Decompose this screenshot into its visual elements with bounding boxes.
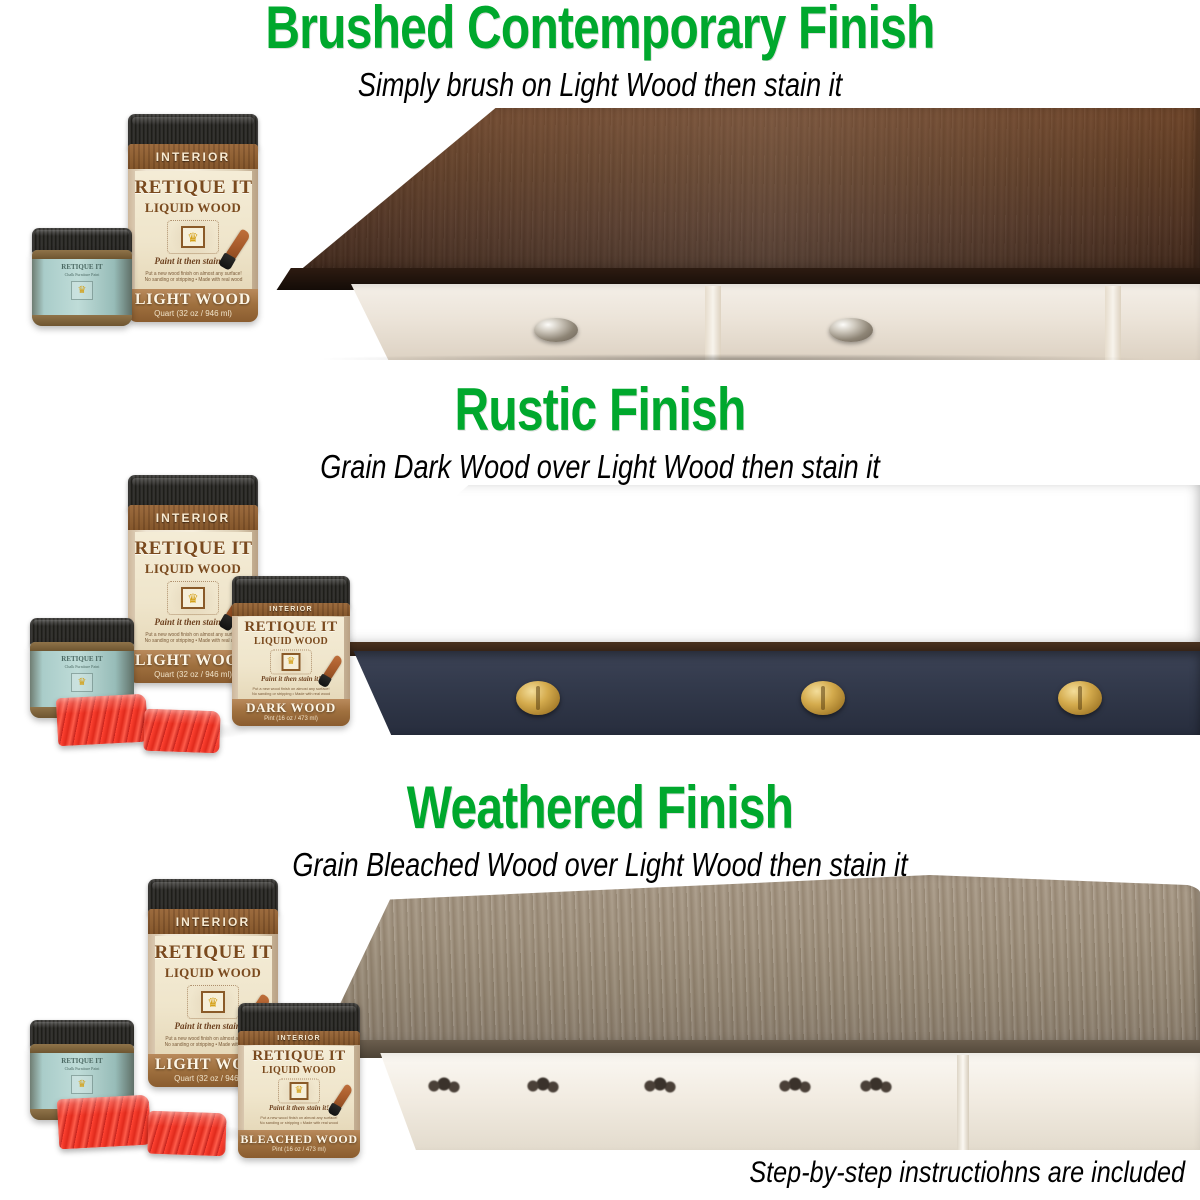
jar-fineprint-line2: No sanding or stripping • Made with real…	[137, 277, 249, 283]
jar-brand-name: RETIQUE IT	[244, 1048, 354, 1065]
section-brushed-contemporary: Brushed Contemporary Finish Simply brush…	[0, 0, 1200, 390]
jar-interior-band: INTERIOR	[148, 909, 278, 934]
jar-product-label: Chalk Furniture Paint	[40, 272, 124, 277]
jar-interior-label: INTERIOR	[128, 505, 258, 530]
jar-product-label: Chalk Furniture Paint	[38, 1066, 125, 1071]
infographic-page: Brushed Contemporary Finish Simply brush…	[0, 0, 1200, 1200]
paint-brush-icon	[225, 228, 251, 259]
jar-main-label: RETIQUE IT LIQUID WOOD ♛ Paint it then s…	[244, 1046, 354, 1130]
jar-interior-label: INTERIOR	[232, 603, 350, 616]
section-heading-weathered: Weathered Finish	[120, 778, 1080, 838]
jar-variant-name: DARK WOOD	[232, 699, 350, 716]
fleur-de-lis-icon: ♛	[269, 649, 313, 675]
fleur-de-lis-icon: ♛	[165, 580, 221, 616]
drawer-pull	[858, 1077, 894, 1097]
jar-brand-name: RETIQUE IT	[135, 538, 252, 560]
wood-graining-rocker	[147, 1111, 226, 1157]
jar-product-name: LIQUID WOOD	[155, 965, 272, 981]
jar-top-ring	[32, 250, 132, 259]
tabletop-surface	[248, 108, 1200, 278]
drawer-front-panel	[267, 284, 1200, 360]
section-heading-brushed-contemporary: Brushed Contemporary Finish	[120, 0, 1080, 58]
brushed-contemporary-furniture-photo	[248, 108, 1200, 360]
jar-interior-band: INTERIOR	[232, 603, 350, 616]
jar-product-name: LIQUID WOOD	[135, 200, 252, 216]
jar-interior-label: INTERIOR	[128, 144, 258, 169]
jar-brand-name: RETIQUE IT	[238, 619, 344, 636]
wood-graining-rocker	[56, 694, 148, 747]
fleur-de-lis-icon: ♛	[71, 673, 93, 692]
drawer-pull	[426, 1077, 462, 1097]
jar-interior-band: INTERIOR	[128, 144, 258, 169]
jar-interior-band: INTERIOR	[238, 1031, 360, 1045]
jar-size-label: Pint (16 oz / 473 ml)	[238, 1147, 360, 1153]
drawer-knob	[801, 681, 845, 715]
drawer-divider-stile	[957, 1055, 969, 1150]
rustic-furniture-photo	[250, 485, 1200, 735]
jar-interior-label: INTERIOR	[148, 909, 278, 934]
drawer-divider-stile	[705, 286, 721, 360]
fleur-de-lis-icon: ♛	[165, 219, 221, 255]
fleur-de-lis-icon: ♛	[185, 984, 241, 1020]
section-subheading-brushed-contemporary: Simply brush on Light Wood then stain it	[108, 68, 1092, 101]
drawer-pull	[642, 1077, 678, 1097]
furniture-shadow	[324, 354, 1143, 360]
jar-body: RETIQUE IT Chalk Furniture Paint ♛	[32, 250, 132, 326]
section-rustic: Rustic Finish Grain Dark Wood over Light…	[0, 380, 1200, 775]
jar-interior-label: INTERIOR	[238, 1031, 360, 1045]
jar-body: INTERIOR RETIQUE IT LIQUID WOOD ♛ Paint …	[232, 603, 350, 726]
jar-body: INTERIOR RETIQUE IT LIQUID WOOD ♛ Paint …	[128, 144, 258, 322]
drawer-pull	[525, 1077, 561, 1097]
fleur-de-lis-icon: ♛	[277, 1078, 321, 1104]
weathered-furniture-photo	[300, 875, 1200, 1150]
section-weathered: Weathered Finish Grain Bleached Wood ove…	[0, 775, 1200, 1200]
jar-fineprint-line2: No sanding or stripping • Made with real…	[240, 691, 342, 696]
jar-top-ring	[30, 1044, 134, 1053]
jar-size-label: Quart (32 oz / 946 ml)	[128, 309, 258, 318]
jar-fineprint-line2: No sanding or stripping • Made with real…	[246, 1120, 351, 1125]
jar-top-ring	[30, 642, 134, 651]
wood-graining-rocker	[143, 709, 220, 754]
jar-light-wood-quart: INTERIOR RETIQUE IT LIQUID WOOD ♛ Paint …	[128, 114, 258, 322]
jar-brand-name: RETIQUE IT	[38, 1057, 125, 1065]
jar-brand-name: RETIQUE IT	[40, 263, 124, 271]
drawer-pull	[777, 1077, 813, 1097]
footnote-instructions: Step-by-step instructiohns are included	[190, 1156, 1185, 1190]
section-heading-rustic: Rustic Finish	[120, 380, 1080, 440]
tabletop-surface	[250, 485, 1200, 650]
fleur-de-lis-icon: ♛	[71, 281, 93, 300]
jar-product-name: LIQUID WOOD	[135, 561, 252, 577]
drawer-knob	[516, 681, 560, 715]
jar-variant-name: LIGHT WOOD	[128, 289, 258, 309]
drawer-front-panel	[309, 1053, 1200, 1150]
jar-bottom-ring	[32, 315, 132, 326]
jar-teal-chalk-paint: RETIQUE IT Chalk Furniture Paint ♛	[32, 228, 132, 326]
drawer-knob	[534, 318, 578, 342]
jar-variant-band: LIGHT WOOD Quart (32 oz / 946 ml)	[128, 289, 258, 322]
jar-product-name: LIQUID WOOD	[244, 1065, 354, 1076]
fleur-de-lis-icon: ♛	[71, 1075, 93, 1094]
jar-main-label: RETIQUE IT LIQUID WOOD ♛ Paint it then s…	[135, 171, 252, 289]
jar-brand-name: RETIQUE IT	[135, 177, 252, 199]
jar-interior-band: INTERIOR	[128, 505, 258, 530]
drawer-divider-stile	[1105, 286, 1121, 360]
jar-product-label: Chalk Furniture Paint	[38, 664, 125, 669]
jar-dark-wood-pint: INTERIOR RETIQUE IT LIQUID WOOD ♛ Paint …	[232, 576, 350, 726]
jar-brand-name: RETIQUE IT	[155, 942, 272, 964]
jar-brand-name: RETIQUE IT	[38, 655, 125, 663]
drawer-knob	[1058, 681, 1102, 715]
drawer-knob	[829, 318, 873, 342]
tabletop-surface	[300, 875, 1200, 1050]
jar-main-label: RETIQUE IT LIQUID WOOD ♛ Paint it then s…	[238, 617, 344, 699]
jar-product-name: LIQUID WOOD	[238, 636, 344, 647]
wood-graining-rocker	[57, 1095, 151, 1150]
